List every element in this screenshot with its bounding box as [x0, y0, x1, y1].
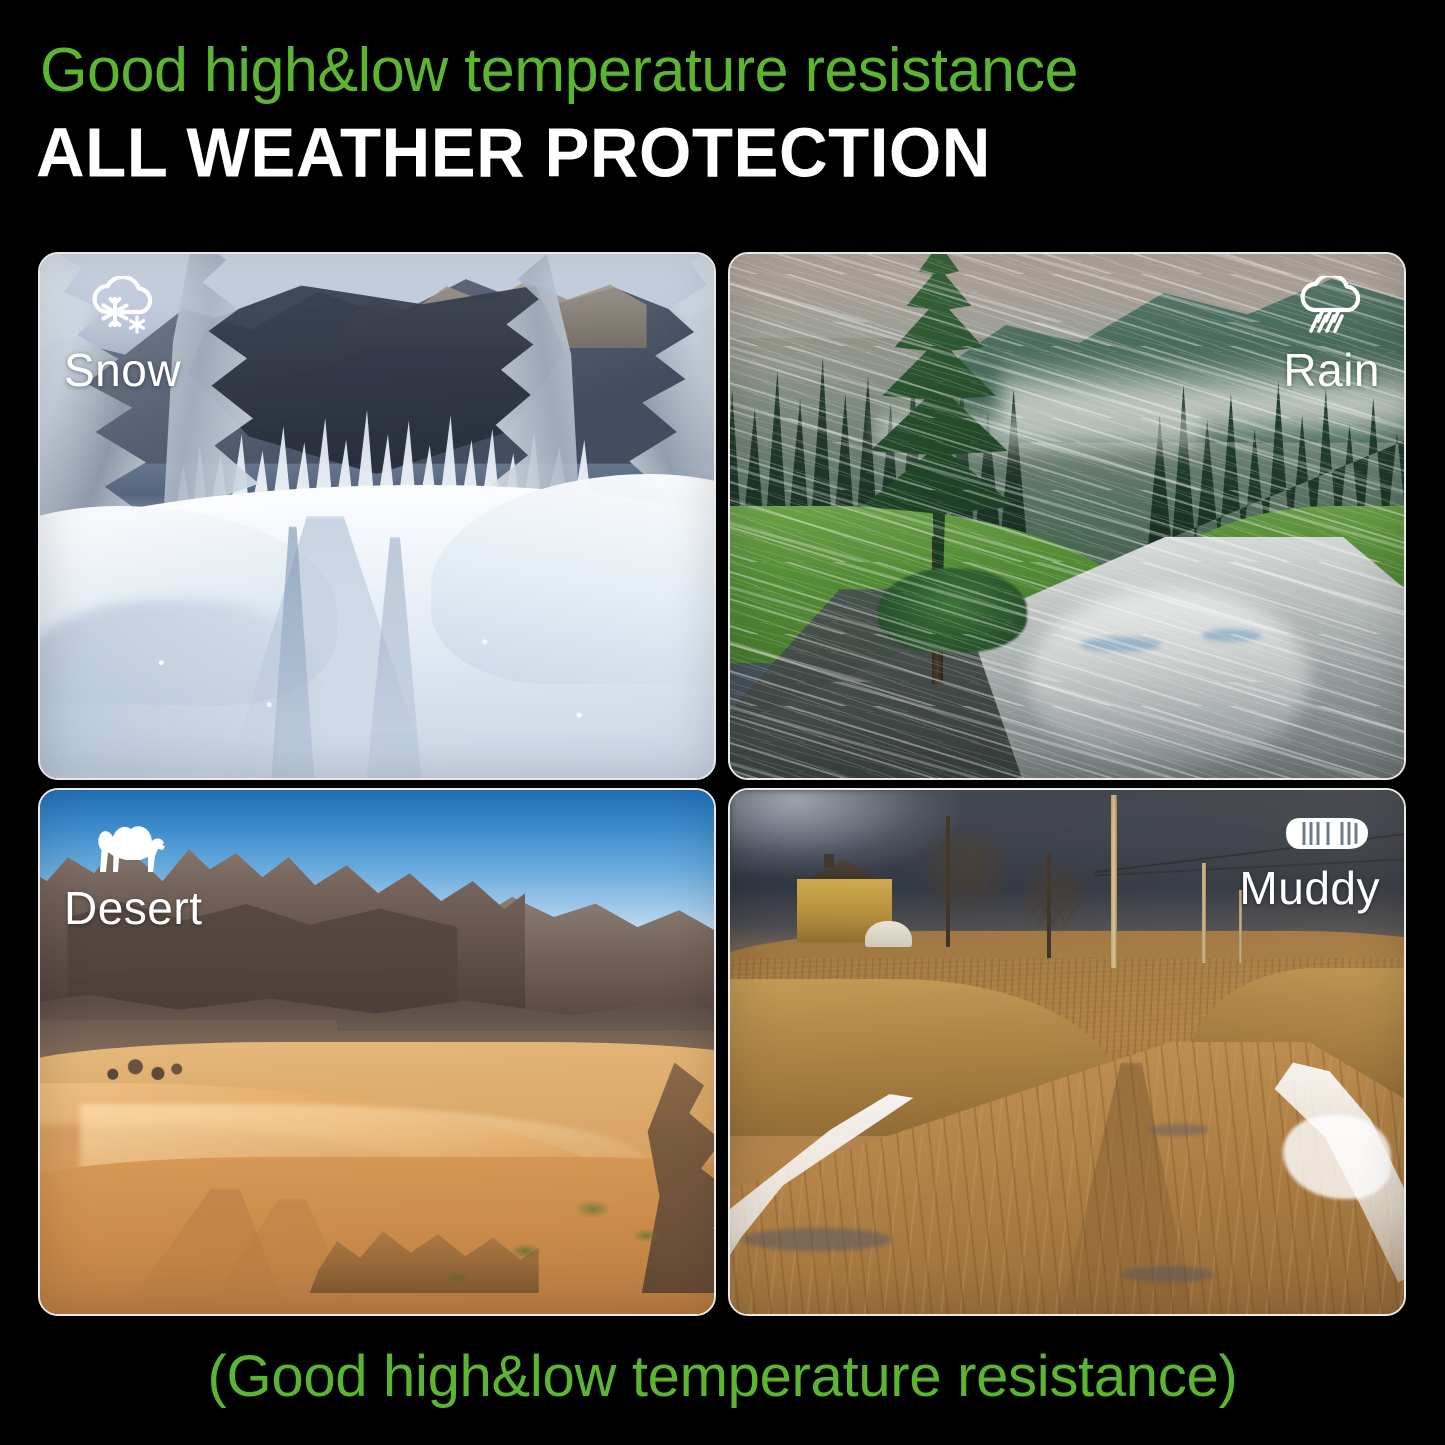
panel-label-text-desert: Desert: [64, 882, 202, 934]
panel-muddy[interactable]: Muddy: [728, 788, 1406, 1316]
panel-label-muddy: Muddy: [1239, 812, 1380, 911]
panel-desert[interactable]: Desert: [38, 788, 716, 1316]
cloud-rain-icon: [1283, 276, 1370, 345]
cloud-snow-icon: [86, 276, 181, 345]
panel-label-text-muddy: Muddy: [1239, 862, 1380, 914]
camel-icon: [86, 812, 202, 883]
panel-label-desert: Desert: [64, 812, 202, 931]
panel-label-rain: Rain: [1283, 276, 1380, 393]
panel-label-snow: Snow: [64, 276, 181, 393]
weather-panel-grid: Snow: [38, 252, 1406, 1316]
panel-rain[interactable]: Rain: [728, 252, 1406, 780]
panel-label-text-snow: Snow: [64, 344, 181, 396]
panel-label-text-rain: Rain: [1283, 344, 1380, 396]
footer-caption: (Good high&low temperature resistance): [0, 1348, 1445, 1406]
panel-snow[interactable]: Snow: [38, 252, 716, 780]
boot-print-icon: [1239, 812, 1370, 863]
tagline: Good high&low temperature resistance: [40, 40, 1078, 102]
page-title: ALL WEATHER PROTECTION: [36, 117, 991, 187]
